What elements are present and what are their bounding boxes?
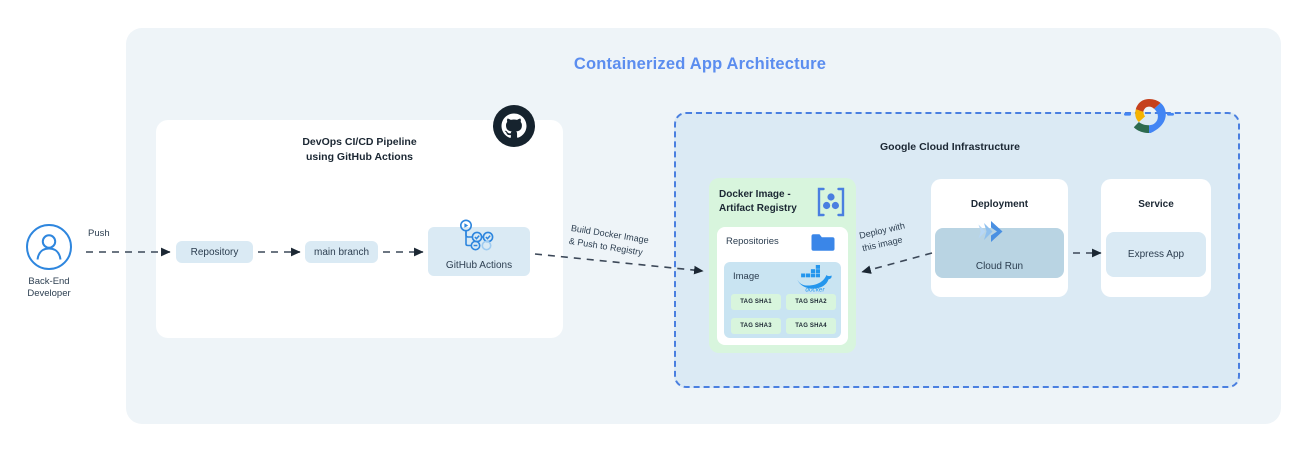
- page-title: Containerized App Architecture: [420, 55, 980, 74]
- node-main-branch-label: main branch: [314, 247, 369, 258]
- node-github-actions-label: GitHub Actions: [446, 260, 512, 271]
- google-cloud-logo: [1122, 92, 1176, 140]
- deployment-title: Deployment: [931, 199, 1068, 210]
- node-repository-label: Repository: [191, 247, 239, 258]
- node-repository[interactable]: Repository: [176, 241, 253, 263]
- image-tag: TAG SHA3: [731, 318, 781, 334]
- docker-whale-icon: docker: [795, 264, 835, 292]
- node-express-app[interactable]: Express App: [1106, 232, 1206, 277]
- image-tag: TAG SHA4: [786, 318, 836, 334]
- architecture-diagram: Containerized App Architecture Back-End …: [0, 0, 1296, 453]
- service-title: Service: [1101, 199, 1211, 210]
- google-cloud-title: Google Cloud Infrastructure: [700, 141, 1200, 153]
- github-logo: [492, 104, 536, 148]
- cloud-run-icon: [975, 219, 1015, 245]
- artifact-registry-icon: [814, 185, 848, 219]
- github-actions-icon: [456, 219, 496, 253]
- artifact-registry-title: Docker Image - Artifact Registry: [719, 188, 809, 216]
- folder-icon: [810, 232, 836, 253]
- image-tag: TAG SHA1: [731, 294, 781, 310]
- actor-back-end-developer: Back-End Developer: [17, 224, 81, 300]
- node-cloud-run-label: Cloud Run: [976, 261, 1023, 272]
- image-label: Image: [733, 271, 759, 282]
- node-main-branch[interactable]: main branch: [305, 241, 378, 263]
- repositories-label: Repositories: [726, 236, 779, 247]
- edge-label-push: Push: [88, 228, 110, 239]
- image-tag: TAG SHA2: [786, 294, 836, 310]
- actor-label: Back-End Developer: [17, 276, 81, 300]
- user-icon: [26, 224, 72, 270]
- svg-text:docker: docker: [805, 286, 825, 292]
- node-express-app-label: Express App: [1128, 249, 1184, 260]
